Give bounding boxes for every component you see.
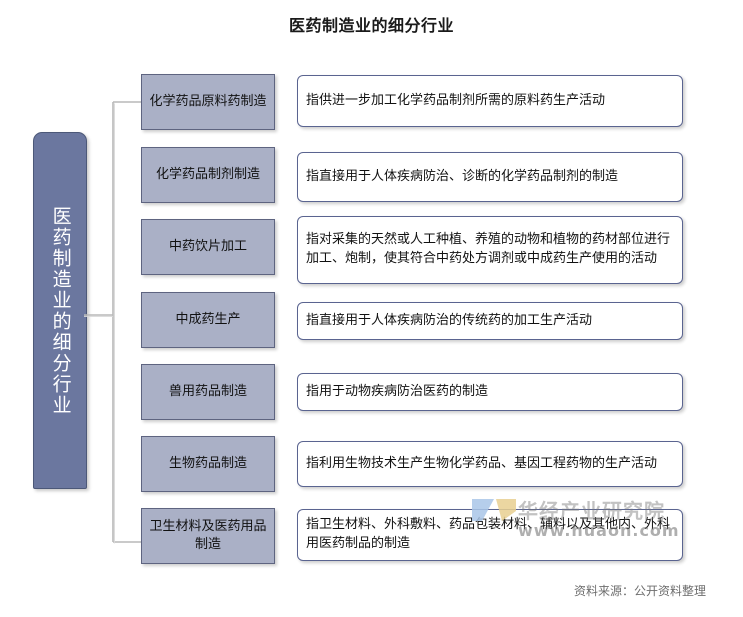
description-text: 指用于动物疾病防治医药的制造 [298,383,496,402]
page-title: 医药制造业的细分行业 [0,12,743,36]
description-text: 指直接用于人体疾病防治、诊断的化学药品制剂的制造 [298,168,626,187]
description-box: 指供进一步加工化学药品制剂所需的原料药生产活动 [297,75,683,127]
description-box: 指对采集的天然或人工种植、养殖的动物和植物的药材部位进行加工、炮制，使其符合中药… [297,216,683,284]
category-label: 化学药品制剂制造 [152,166,264,184]
description-box: 指卫生材料、外科敷料、药品包装材料、辅料以及其他内、外科用医药制品的制造 [297,509,683,561]
category-label: 生物药品制造 [165,455,251,473]
description-text: 指直接用于人体疾病防治的传统药的加工生产活动 [298,312,600,331]
category-box[interactable]: 中药饮片加工 [141,219,275,275]
category-box[interactable]: 中成药生产 [141,292,275,348]
category-label: 卫生材料及医药用品制造 [142,518,274,553]
description-box: 指直接用于人体疾病防治的传统药的加工生产活动 [297,302,683,340]
description-box: 指直接用于人体疾病防治、诊断的化学药品制剂的制造 [297,152,683,202]
category-box[interactable]: 化学药品原料药制造 [141,74,275,130]
category-label: 中成药生产 [171,311,244,329]
category-box[interactable]: 兽用药品制造 [141,364,275,420]
category-box[interactable]: 卫生材料及医药用品制造 [141,508,275,564]
trunk-node-label: 医药制造业的细分行业 [48,206,71,416]
category-label: 中药饮片加工 [165,238,251,256]
description-text: 指利用生物技术生产生物化学药品、基因工程药物的生产活动 [298,455,665,474]
category-box[interactable]: 生物药品制造 [141,436,275,492]
category-label: 化学药品原料药制造 [145,93,270,111]
description-text: 指供进一步加工化学药品制剂所需的原料药生产活动 [298,92,613,111]
description-text: 指卫生材料、外科敷料、药品包装材料、辅料以及其他内、外科用医药制品的制造 [298,516,682,554]
description-box: 指用于动物疾病防治医药的制造 [297,373,683,411]
description-text: 指对采集的天然或人工种植、养殖的动物和植物的药材部位进行加工、炮制，使其符合中药… [298,231,682,269]
diagram-root: 医药制造业的细分行业 医药制造业的细分行业 化学药品原料药制造 指供进一步加工化… [0,0,743,617]
source-note: 资料来源：公开资料整理 [574,582,706,599]
category-label: 兽用药品制造 [165,383,251,401]
description-box: 指利用生物技术生产生物化学药品、基因工程药物的生产活动 [297,441,683,487]
category-box[interactable]: 化学药品制剂制造 [141,147,275,203]
trunk-node-pharmaceutical-manufacturing: 医药制造业的细分行业 [33,132,87,489]
